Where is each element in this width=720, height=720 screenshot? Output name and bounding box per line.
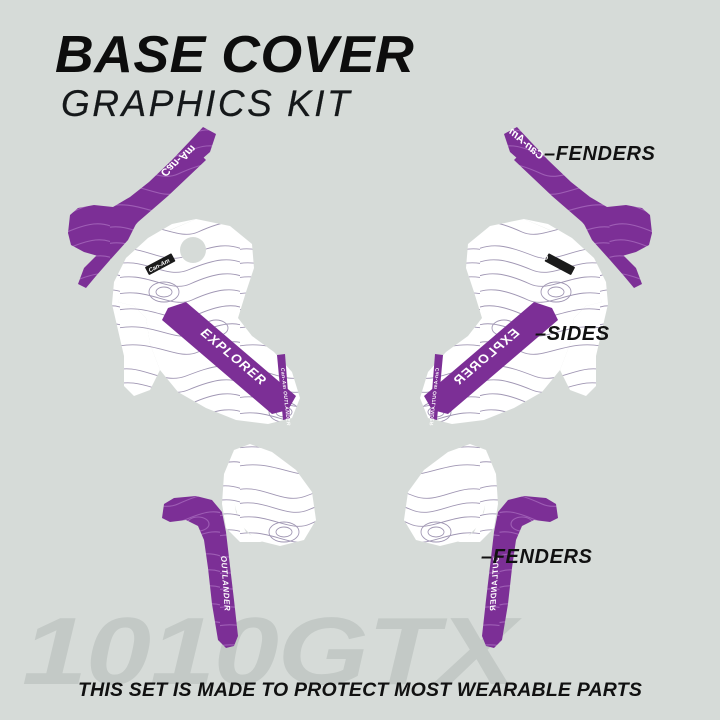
page-title: BASE COVER [55, 28, 414, 82]
decal-panel-bottom-left [222, 444, 316, 546]
brand-badge-side-left: Can-Am [145, 253, 176, 275]
graphics-kit-canvas: 1010GTX [0, 0, 720, 720]
brand-text-fender-top-left: Can-Am [158, 142, 198, 179]
callout-fenders-bottom: –FENDERS [481, 546, 593, 569]
stripe-text-left: EXPLORER [198, 325, 270, 389]
svg-text:Can-Am: Can-Am [525, 246, 549, 262]
decal-side-right [420, 219, 608, 424]
small-stripe-text-right: Can-Am OUTLANDER [429, 368, 441, 427]
footer-tagline: THIS SET IS MADE TO PROTECT MOST WEARABL… [0, 679, 720, 702]
stripe-text-right: EXPLORER [450, 325, 522, 389]
callout-fenders-top: –FENDERS [544, 143, 656, 166]
decal-side-left: EXPLORER Can-Am OUTLANDER Can-Am [112, 219, 300, 426]
brand-badge-side-right: Can-Am [525, 243, 575, 275]
title-block: BASE COVER GRAPHICS KIT [55, 28, 404, 124]
svg-text:Can-Am: Can-Am [148, 258, 172, 274]
page-subtitle: GRAPHICS KIT [61, 84, 404, 124]
decal-panel-bottom-right [404, 444, 498, 546]
small-stripe-text-left: Can-Am OUTLANDER [279, 368, 291, 427]
callout-sides: –SIDES [535, 323, 610, 346]
brand-text-fender-top-right: Can-Am [506, 125, 546, 162]
decal-fender-top-left: Can-Am [68, 127, 216, 288]
